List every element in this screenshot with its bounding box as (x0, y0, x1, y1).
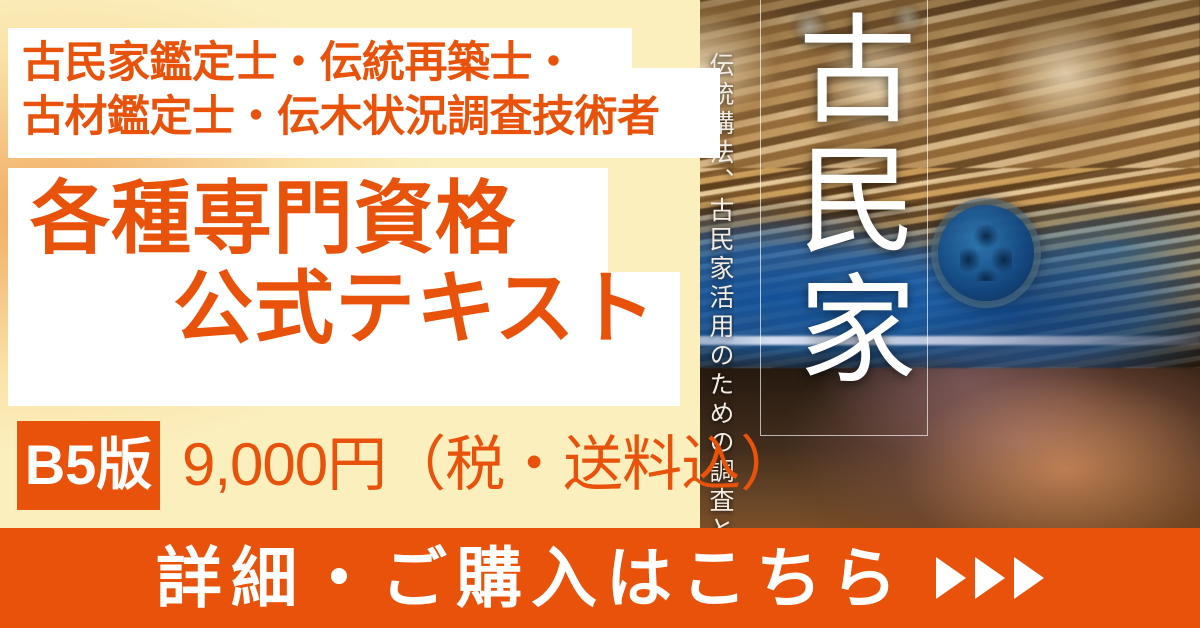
price-row: B5版 9,000円（税・送料込） (17, 420, 799, 510)
book-cover-title: 古民家 (775, 8, 915, 428)
play-triangle-icon (1014, 557, 1044, 599)
certifications-line-2: 古材鑑定士・伝木状況調査技術者 (22, 90, 720, 144)
cta-bar[interactable]: 詳細・ご購入はこちら (0, 528, 1200, 628)
headline-panel: 各種専門資格 公式テキスト (8, 168, 680, 406)
promo-banner: 古民家 伝統構法、古民家活用のための調査と再生の 古民家鑑定士・伝統再築士・ 古… (0, 0, 1200, 628)
certifications-line-1: 古民家鑑定士・伝統再築士・ (22, 36, 720, 90)
price-amount: 9,000円（税・送料込） (182, 435, 799, 495)
play-triangle-icon (975, 557, 1005, 599)
book-size-badge: B5版 (17, 421, 160, 510)
play-triangle-icon (936, 557, 966, 599)
headline-line-1: 各種専門資格 (30, 174, 516, 264)
cta-label: 詳細・ご購入はこちら (156, 545, 906, 611)
certifications-panel: 古民家鑑定士・伝統再築士・ 古材鑑定士・伝木状況調査技術者 (8, 28, 720, 158)
headline-line-2: 公式テキスト (173, 264, 657, 354)
cta-arrows (936, 557, 1044, 599)
